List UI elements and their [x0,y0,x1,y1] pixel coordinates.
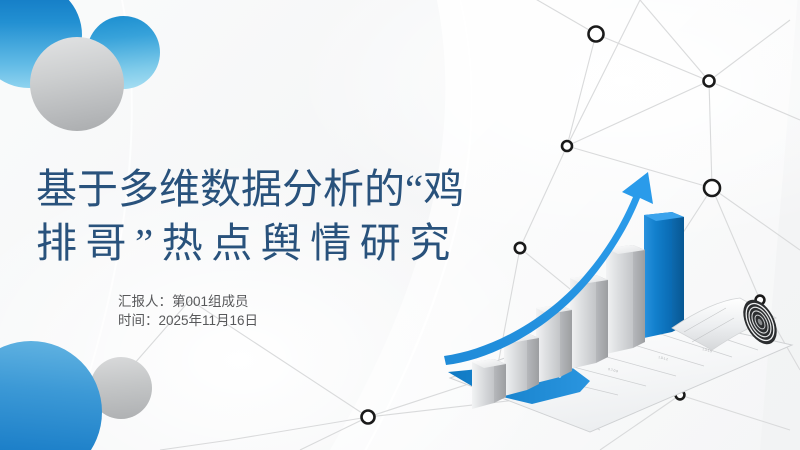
decoration-circle-top-left-grey [30,37,124,131]
presenter-label: 汇报人：第001组成员 [118,292,258,311]
presentation-slide: 0.1-0.3 0.4-0.6 0.7-0.9 1.0-1.2 1.3-1.5 [0,0,800,450]
title-line-2: 排哥”热点舆情研究 [36,216,566,270]
chart-bar-5 [606,245,645,354]
slide-title: 基于多维数据分析的“鸡 排哥”热点舆情研究 [36,162,566,270]
date-label: 时间：2025年11月16日 [118,311,258,330]
chart-bar-6-highlight [644,212,684,338]
slide-meta: 汇报人：第001组成员 时间：2025年11月16日 [118,292,258,330]
title-line-1: 基于多维数据分析的“鸡 [36,162,566,216]
chart-bar-1 [472,359,506,409]
